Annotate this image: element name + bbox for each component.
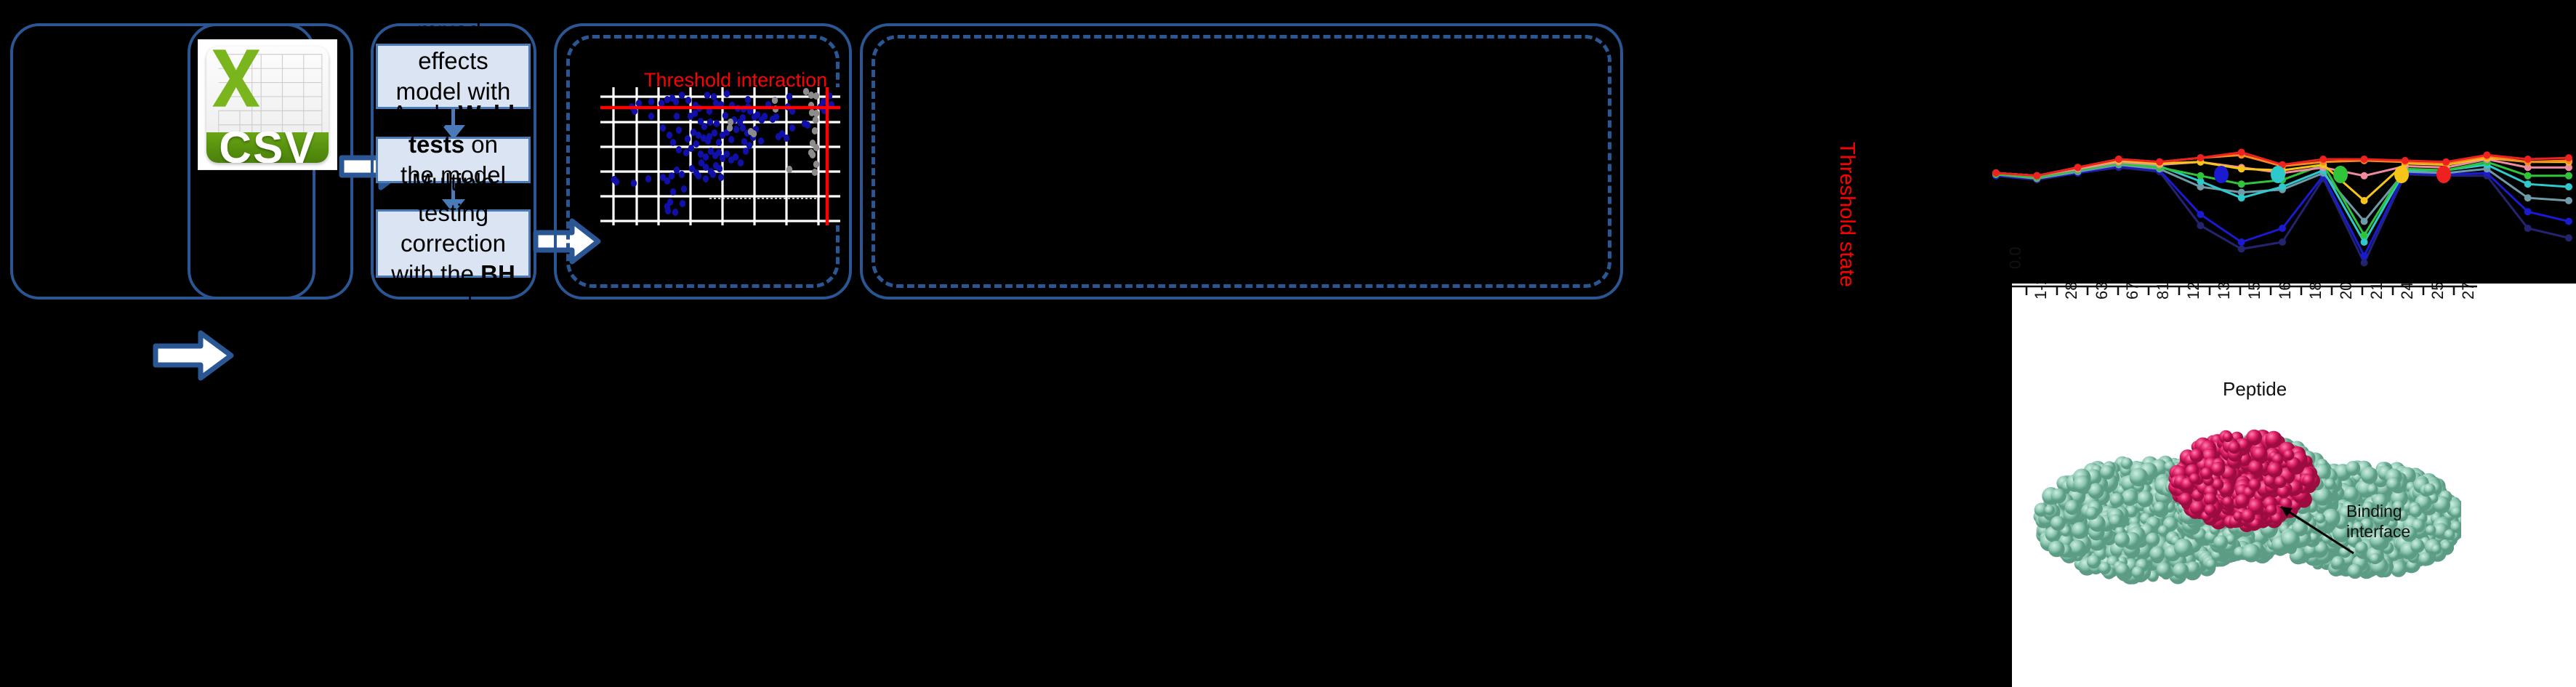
surface-atom	[2213, 535, 2228, 550]
surface-atom	[2346, 461, 2360, 475]
legend-dot-yellow	[2394, 166, 2409, 183]
legend-dot-red	[2436, 166, 2451, 183]
surface-atom	[2241, 509, 2255, 523]
line-point	[2238, 246, 2245, 253]
surface-atom	[2051, 489, 2066, 504]
line-point	[2156, 158, 2163, 166]
surface-atom	[2157, 563, 2172, 578]
surface-atom	[2235, 494, 2250, 508]
line-point	[2279, 183, 2286, 190]
excel-x-icon	[209, 47, 263, 108]
line-point	[2524, 225, 2532, 232]
surface-atom	[2242, 544, 2261, 563]
line-point	[2238, 238, 2245, 246]
arrow-into-csv	[153, 329, 234, 382]
surface-atom	[2189, 473, 2200, 484]
peptide-tick-label: 1-15	[2032, 284, 2050, 300]
line-point	[2565, 183, 2572, 190]
line-point	[2524, 156, 2532, 163]
surface-atom	[2410, 539, 2424, 553]
surface-atom	[2331, 556, 2345, 570]
surface-atom	[2252, 446, 2267, 462]
surface-atom	[2210, 462, 2225, 476]
peptide-line-chart	[1992, 138, 2573, 287]
surface-atom	[2265, 431, 2282, 448]
legend-dot-green	[2333, 166, 2348, 183]
surface-atom	[2281, 530, 2300, 549]
surface-atom	[2190, 449, 2204, 462]
line-point	[2524, 172, 2532, 180]
line-point	[2197, 154, 2204, 161]
line-point	[2197, 211, 2204, 218]
surface-atom	[2154, 502, 2167, 515]
peptide-tick-label: 135-144	[2215, 284, 2234, 300]
line-point	[2361, 172, 2368, 180]
line-point	[2524, 180, 2532, 188]
surface-atom	[2315, 513, 2325, 523]
binding-interface-line1: Binding	[2346, 502, 2410, 522]
peptide-tick-label: 63-73	[2093, 284, 2112, 300]
process-step-bh-text: Multiple testingcorrectionwith the BH pr…	[385, 167, 521, 320]
line-point	[2361, 218, 2368, 225]
line-point	[2402, 157, 2409, 164]
surface-atom	[2302, 474, 2314, 486]
surface-atom	[2114, 532, 2130, 547]
surface-atom	[2325, 478, 2336, 490]
surface-atom	[2248, 478, 2261, 491]
line-point	[2361, 156, 2368, 163]
threshold-state-label: Threshold state	[1835, 142, 1859, 287]
surface-atom	[2073, 475, 2091, 494]
surface-atom	[2204, 493, 2217, 506]
surface-atom	[2370, 553, 2381, 565]
surface-atom	[2248, 460, 2263, 475]
surface-atom	[2423, 483, 2436, 496]
peptide-tick-label: 28-44	[2062, 284, 2081, 300]
line-point	[2565, 154, 2572, 161]
surface-atom	[2100, 465, 2114, 480]
surface-atom	[2098, 562, 2111, 574]
surface-atom	[2173, 563, 2189, 579]
surface-atom	[2223, 497, 2234, 507]
line-point	[2565, 197, 2572, 204]
scatter-plot	[600, 87, 840, 225]
peptide-tick-label: 167-180	[2276, 284, 2295, 300]
surface-atom	[2431, 545, 2442, 555]
line-point	[2565, 234, 2572, 241]
peptide-tick-labels: 1-1528-4463-7367-7581-101122-129135-1441…	[2012, 300, 2521, 379]
binding-interface-line2: interface	[2346, 522, 2410, 542]
surface-atom	[2410, 505, 2422, 517]
surface-atom	[2426, 525, 2436, 536]
line-point	[2033, 172, 2040, 180]
csv-file-icon: CSV	[198, 40, 337, 169]
surface-atom	[2274, 476, 2287, 489]
line-point	[2524, 194, 2532, 201]
legend-dot-cyan	[2271, 166, 2285, 183]
line-point	[2238, 194, 2245, 201]
surface-atom	[2065, 500, 2080, 515]
surface-atom	[2444, 529, 2455, 540]
line-point	[2565, 218, 2572, 225]
line-point	[2197, 222, 2204, 229]
line-point	[2238, 165, 2245, 172]
csv-icon-body: CSV	[206, 47, 328, 163]
line-point	[2361, 197, 2368, 204]
y-axis-tick-0: 0.0	[2006, 246, 2025, 269]
surface-atom	[2072, 522, 2088, 539]
surface-atom	[2228, 441, 2240, 454]
surface-atom	[2048, 541, 2065, 558]
surface-atom	[2386, 477, 2401, 491]
surface-atom	[2361, 467, 2378, 483]
peptide-tick-label: 241-257	[2398, 284, 2417, 300]
peptide-tick-label: 258-266	[2428, 284, 2447, 300]
surface-atom	[2179, 493, 2193, 507]
line-point	[2442, 158, 2450, 166]
csv-label-band: CSV	[206, 132, 328, 163]
surface-atom	[2122, 489, 2138, 506]
structure-figure-card: 1-1528-4463-7367-7581-101122-129135-1441…	[2012, 284, 2576, 687]
line-point	[2524, 208, 2532, 215]
line-point	[2197, 172, 2204, 180]
csv-label: CSV	[219, 122, 315, 163]
surface-atom	[2045, 505, 2055, 515]
line-point	[2238, 180, 2245, 188]
peptide-tick-label: 277-284	[2459, 284, 2478, 300]
surface-atom	[2132, 566, 2145, 579]
line-point	[2238, 149, 2245, 156]
surface-atom	[2343, 486, 2359, 502]
line-point	[1992, 169, 2000, 177]
surface-atom	[2137, 491, 2154, 507]
surface-atom	[2116, 563, 2130, 577]
surface-atom	[2110, 493, 2125, 507]
panel-structure-results-inner	[872, 35, 1611, 288]
surface-atom	[2149, 546, 2165, 562]
line-point	[2361, 260, 2368, 267]
line-point	[2115, 156, 2122, 163]
surface-atom	[2266, 505, 2277, 516]
peptide-tick-label: 200-214	[2337, 284, 2356, 300]
line-point	[2361, 238, 2368, 246]
surface-atom	[2267, 462, 2282, 478]
surface-atom	[2418, 552, 2432, 566]
line-point	[2279, 238, 2286, 246]
peptide-tick-label: 184-199	[2306, 284, 2325, 300]
line-point	[2361, 252, 2368, 260]
surface-atom	[2355, 542, 2368, 555]
line-point	[2483, 151, 2490, 158]
surface-atom	[2283, 449, 2294, 460]
surface-atom	[2085, 507, 2098, 520]
surface-atom	[2174, 539, 2193, 558]
surface-atom	[2146, 533, 2160, 547]
surface-atom	[2050, 516, 2065, 531]
peptide-tick-label: 81-101	[2154, 284, 2173, 300]
legend-dot-blue	[2214, 166, 2229, 183]
surface-atom	[2348, 564, 2363, 579]
peptide-axis-title: Peptide	[2223, 378, 2287, 401]
surface-atom	[2109, 514, 2122, 528]
process-step-bh: Multiple testingcorrectionwith the BH pr…	[376, 209, 531, 278]
peptide-tick-label: 218-237	[2367, 284, 2386, 300]
surface-atom	[2223, 432, 2233, 442]
peptide-tick-label: 67-75	[2123, 284, 2142, 300]
peptide-tick-label: 122-129	[2184, 284, 2203, 300]
peptide-tick-label: 158-166	[2245, 284, 2264, 300]
surface-atom	[2205, 505, 2216, 516]
binding-interface-label: Binding interface	[2346, 502, 2410, 542]
line-point	[2074, 164, 2082, 171]
line-point	[2361, 232, 2368, 239]
surface-atom	[2087, 555, 2101, 569]
surface-atom	[2200, 467, 2213, 480]
surface-atom	[2069, 539, 2086, 556]
line-point	[2565, 172, 2572, 180]
surface-atom	[2441, 541, 2452, 552]
surface-atom	[2130, 468, 2149, 487]
line-point	[2279, 225, 2286, 232]
line-point	[2319, 156, 2327, 163]
